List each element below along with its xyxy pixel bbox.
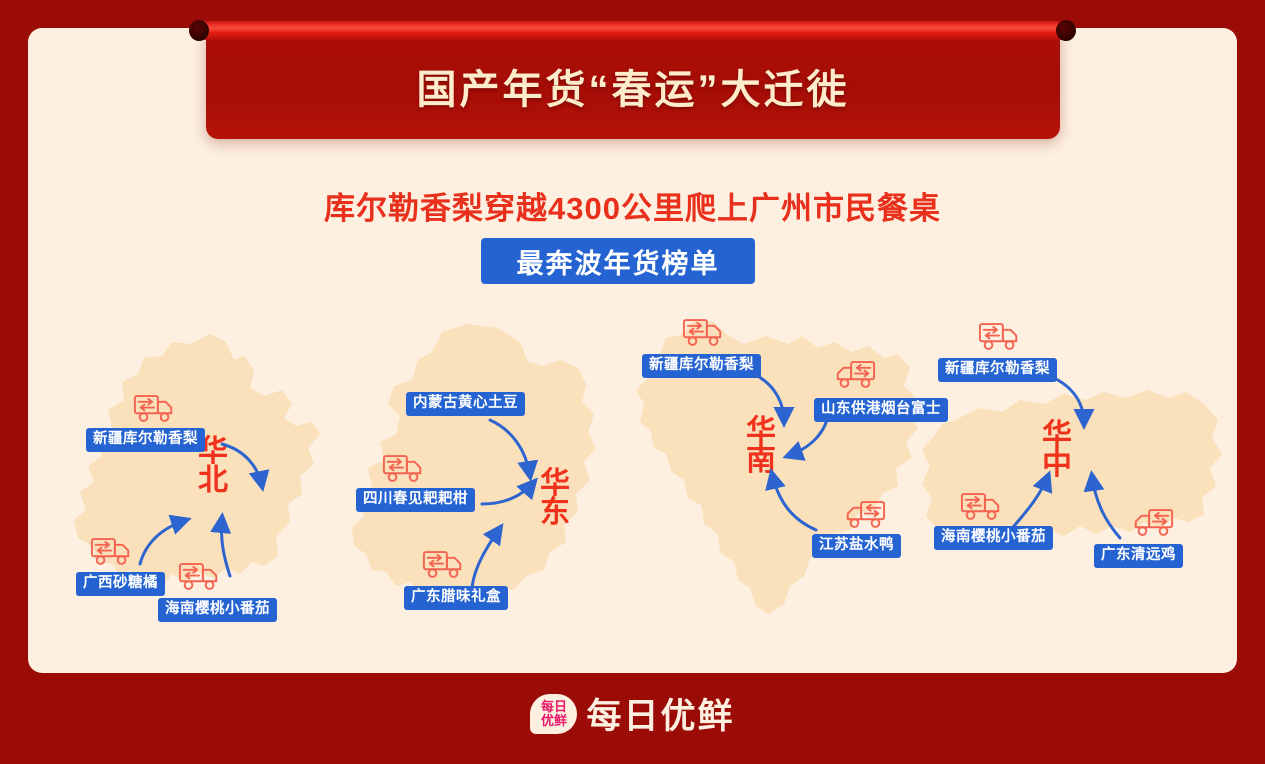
footer-logo: 每日 优鲜 每日优鲜 — [0, 688, 1265, 739]
product-tag[interactable]: 新疆库尔勒香梨 — [86, 428, 205, 452]
delivery-truck-icon — [133, 392, 177, 424]
delivery-truck-icon — [832, 358, 876, 390]
flow-arrow — [208, 510, 258, 582]
delivery-truck-icon — [90, 535, 134, 567]
delivery-truck-icon — [1130, 506, 1174, 538]
product-tag[interactable]: 四川春见耙耙柑 — [356, 488, 475, 512]
logo-badge-line-2: 优鲜 — [541, 714, 567, 727]
region-huadong: 华东 内蒙古黄心土豆 四川春见耙耙柑 — [338, 322, 628, 642]
product-tag[interactable]: 内蒙古黄心土豆 — [406, 392, 525, 416]
flow-arrow — [466, 520, 522, 596]
product-tag[interactable]: 广西砂糖橘 — [76, 572, 165, 596]
flow-arrow — [1066, 468, 1130, 544]
ranking-badge: 最奔波年货榜单 — [481, 238, 755, 284]
subtitle: 库尔勒香梨穿越4300公里爬上广州市民餐桌 — [0, 183, 1265, 228]
delivery-truck-icon — [422, 548, 466, 580]
flow-arrow — [1010, 468, 1066, 534]
delivery-truck-icon — [382, 452, 426, 484]
map-stage: 华北 新疆库尔勒香梨 — [28, 300, 1237, 660]
product-tag[interactable]: 新疆库尔勒香梨 — [938, 358, 1057, 382]
logo-badge-line-1: 每日 — [541, 700, 567, 713]
flow-arrow — [218, 438, 288, 508]
delivery-truck-icon — [842, 498, 886, 530]
region-huabei: 华北 新疆库尔勒香梨 — [68, 330, 358, 640]
product-tag[interactable]: 海南樱桃小番茄 — [158, 598, 277, 622]
product-tag[interactable]: 广东清远鸡 — [1094, 544, 1183, 568]
flow-arrow — [1052, 374, 1110, 436]
flow-arrow — [754, 460, 826, 538]
flow-arrow — [480, 470, 554, 514]
delivery-truck-icon — [960, 490, 1004, 522]
delivery-truck-icon — [682, 316, 726, 348]
region-huazhong: 华中 新疆库尔勒香梨 — [916, 308, 1228, 608]
logo-mark-icon: 每日 优鲜 — [530, 694, 577, 734]
product-tag[interactable]: 新疆库尔勒香梨 — [642, 354, 761, 378]
delivery-truck-icon — [978, 320, 1022, 352]
region-huanan: 华南 新疆库尔勒香梨 — [626, 308, 936, 638]
logo-wordmark: 每日优鲜 — [586, 688, 734, 739]
